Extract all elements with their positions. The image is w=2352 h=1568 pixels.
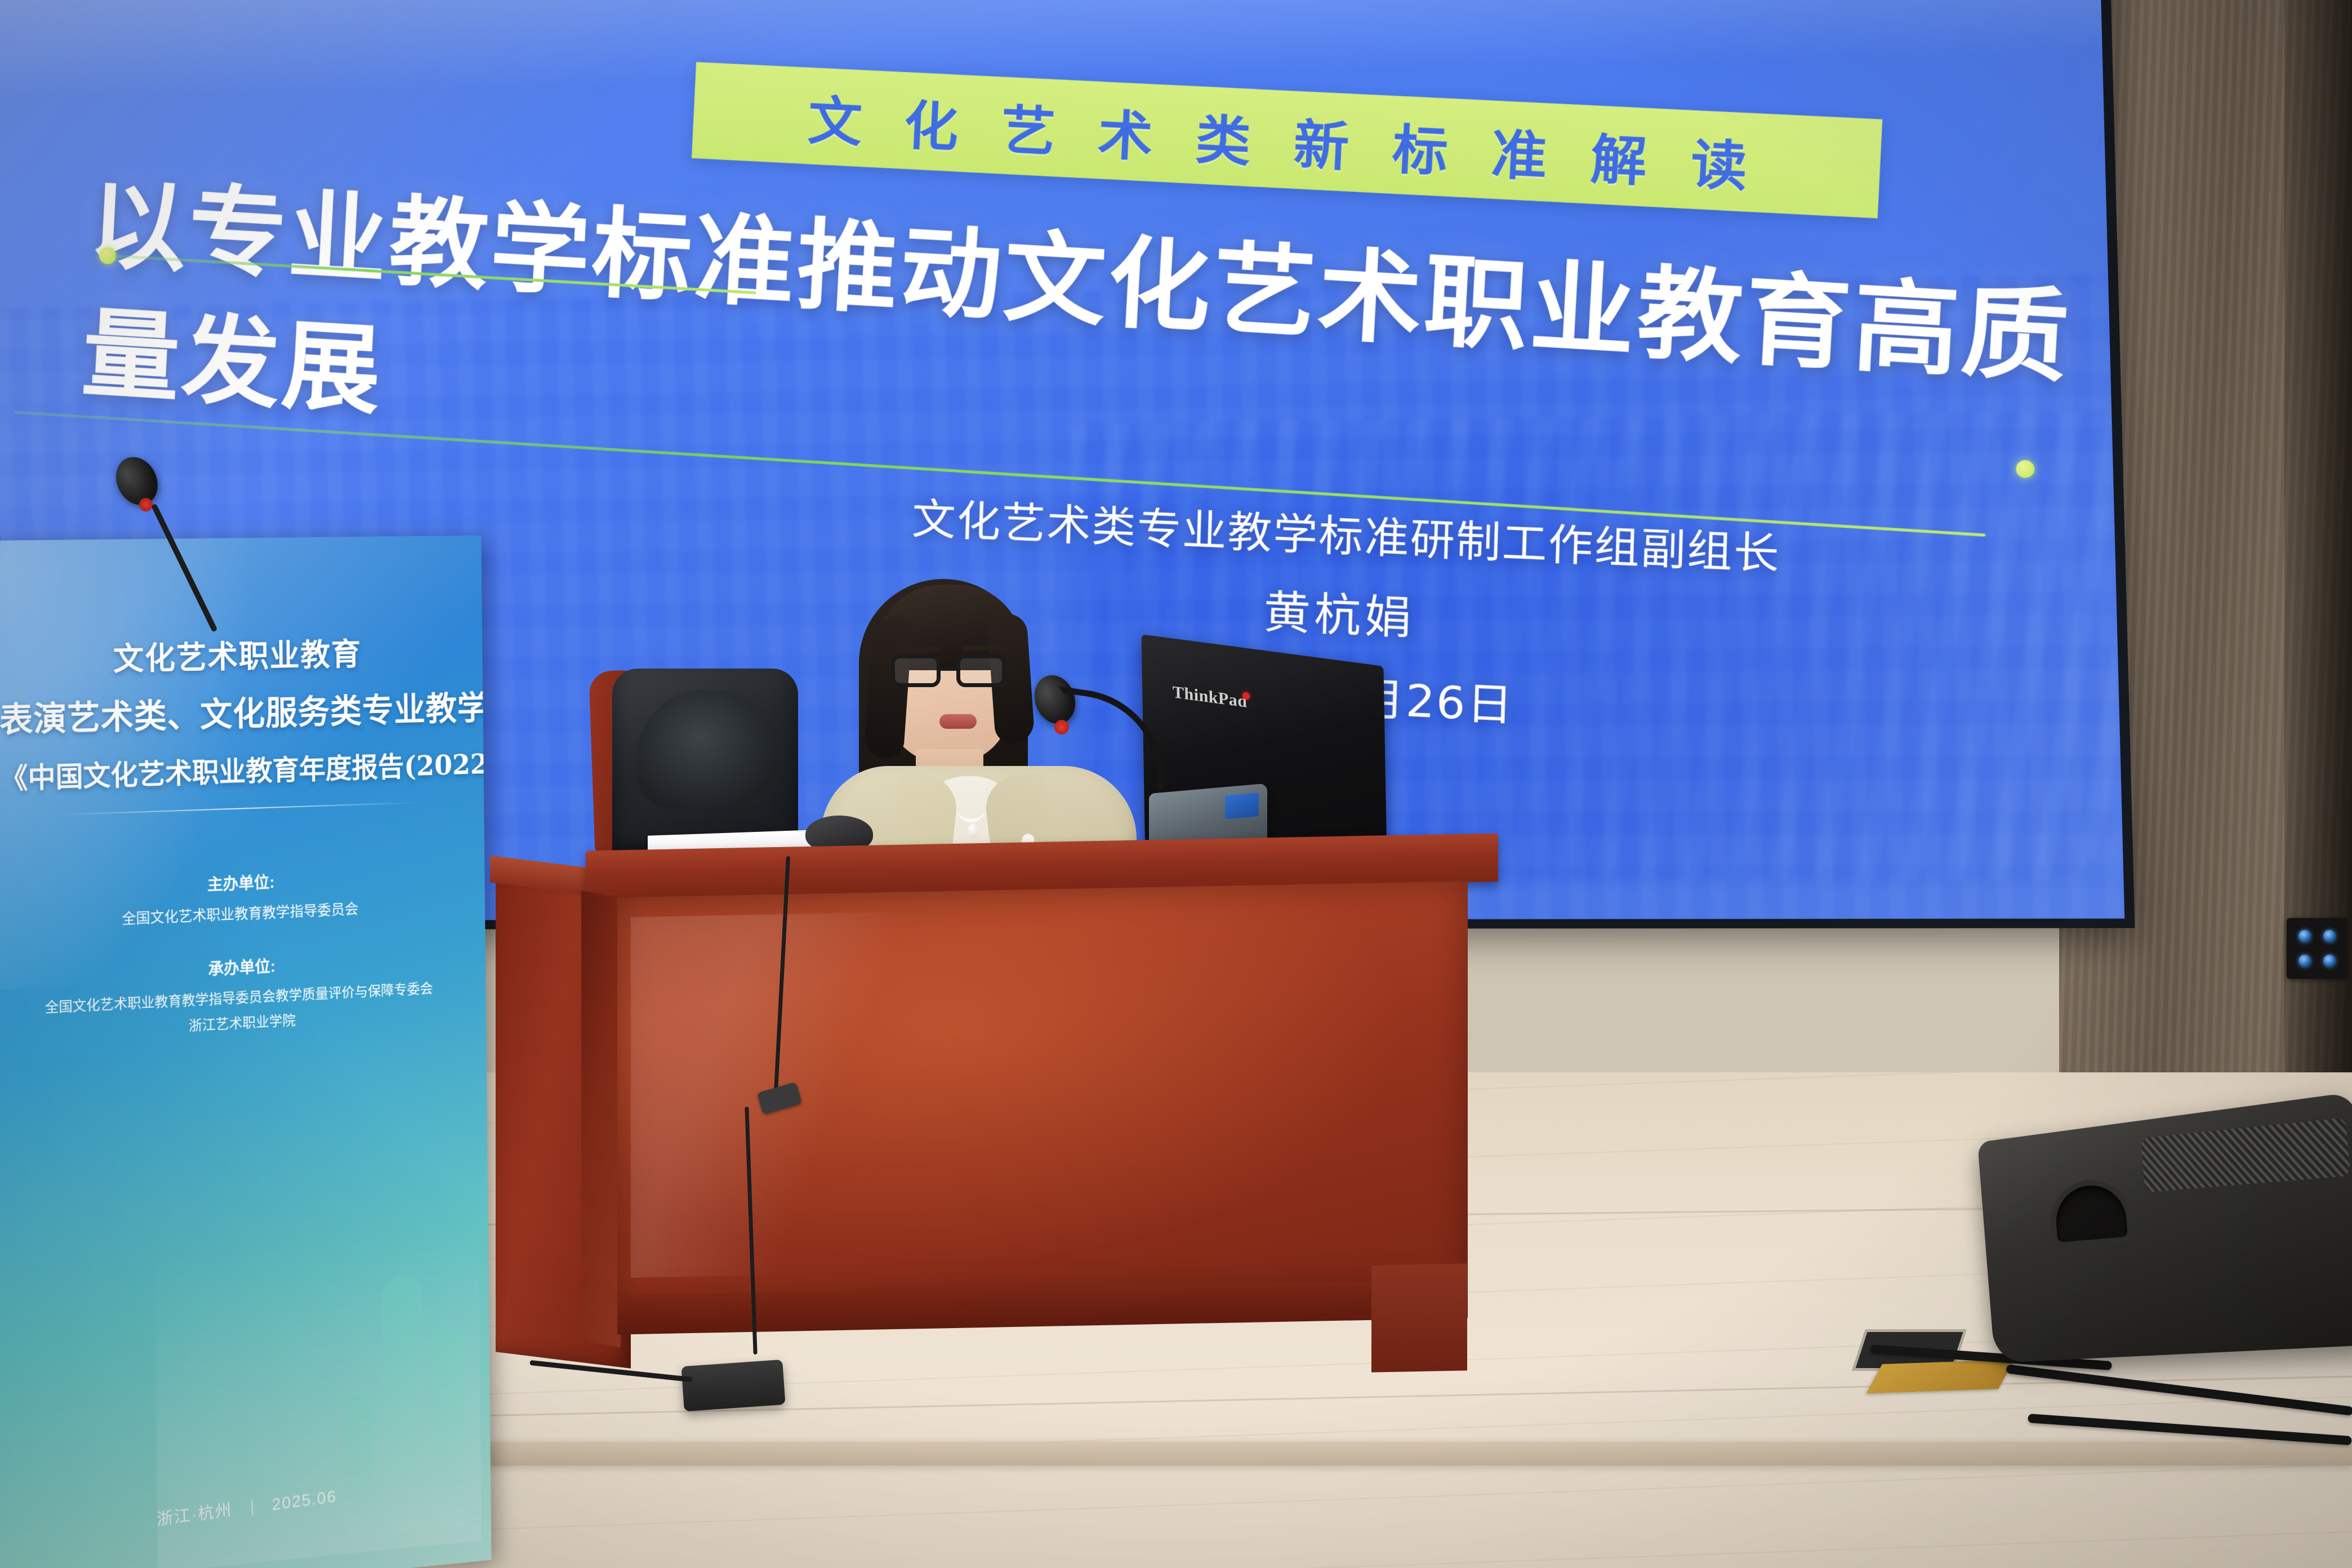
desk-left-side <box>581 890 621 1347</box>
indicator-light <box>2323 955 2336 967</box>
lens-left <box>891 654 941 687</box>
lens-right <box>956 654 1006 687</box>
banner-divider <box>54 802 421 816</box>
pendant <box>968 823 979 838</box>
wood-wall-shadow <box>2284 0 2352 1177</box>
indicator-light <box>2298 955 2311 967</box>
banner-tower-shape <box>431 1329 466 1529</box>
glasses-bridge <box>941 667 957 671</box>
banner-line-2: 表演艺术类、文化服务类专业教学标准宣贯培训 <box>0 682 470 742</box>
microphone-indicator <box>1225 792 1259 819</box>
banner-tower-shape <box>344 1394 373 1538</box>
wall-control-panel[interactable] <box>2287 918 2347 979</box>
banner-content: 文化艺术职业教育 表演艺术类、文化服务类专业教学标准宣贯培训 《中国文化艺术职业… <box>0 536 486 1046</box>
necklace <box>956 793 986 822</box>
eyeglasses-icon <box>890 654 1009 688</box>
banner-line-3: 《中国文化艺术职业教育年度报告(2022-2023)》发布会 <box>0 743 470 797</box>
mouth <box>939 714 977 729</box>
banner-footer-divider <box>251 1499 253 1516</box>
desk-leg <box>1371 1263 1467 1372</box>
presentation-scene: 文 化 艺 术 类 新 标 准 解 读 以专业教学标准推动文化艺术职业教育高质量… <box>0 0 2352 1568</box>
rollup-banner: 文化艺术职业教育 表演艺术类、文化服务类专业教学标准宣贯培训 《中国文化艺术职业… <box>0 536 492 1568</box>
floor-socket-cover-plate[interactable] <box>1867 1360 2015 1393</box>
desk-front-panel <box>617 881 1468 1303</box>
stage-monitor-speaker <box>1966 1118 2352 1355</box>
indicator-light <box>2323 930 2336 942</box>
banner-line-1: 文化艺术职业教育 <box>0 627 469 681</box>
slide-band-title: 文 化 艺 术 类 新 标 准 解 读 <box>807 78 1762 202</box>
microphone-ring <box>139 498 153 511</box>
slide-accent-dot <box>2016 460 2035 478</box>
indicator-light <box>2298 930 2311 942</box>
power-adapter <box>681 1360 785 1411</box>
slide-title-band: 文 化 艺 术 类 新 标 准 解 读 <box>692 62 1882 219</box>
